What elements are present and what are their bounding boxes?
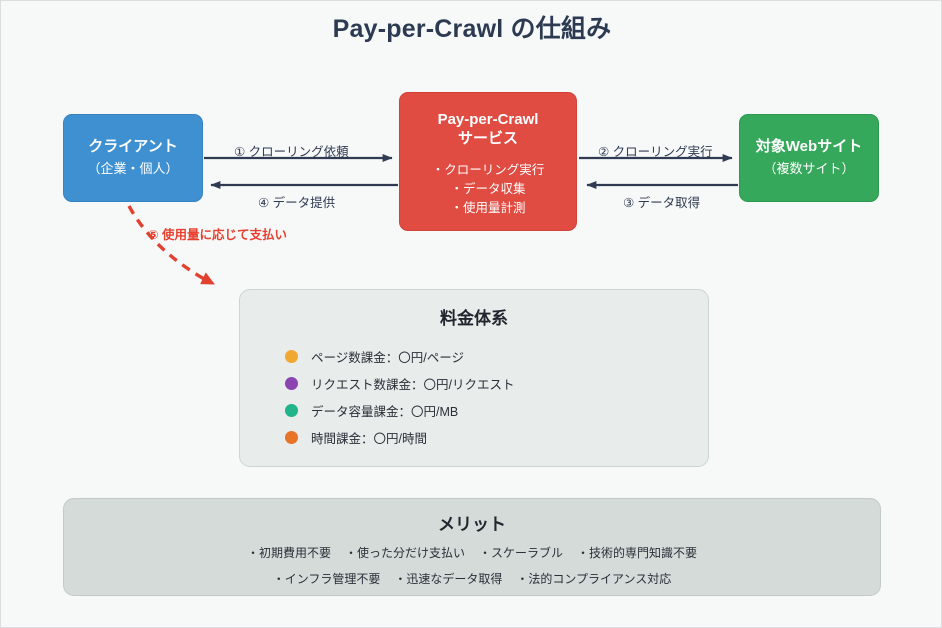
- bullet-dot-icon: [285, 404, 298, 417]
- merits-line-2: ・インフラ管理不要・迅速なデータ取得・法的コンプライアンス対応: [64, 570, 880, 587]
- edge-label-data-provide: ④ データ提供: [258, 192, 335, 211]
- edge-label-crawl-execute: ② クローリング実行: [598, 141, 713, 160]
- pricing-item: ページ数課金：〇円/ページ: [285, 343, 708, 370]
- node-target-title: 対象Webサイト: [756, 138, 862, 157]
- edge-label-data-fetch: ③ データ取得: [623, 192, 700, 211]
- pricing-panel-title: 料金体系: [240, 304, 708, 329]
- arrow-payment-dashed: [129, 206, 206, 280]
- node-client-subtitle: （企業・個人）: [87, 161, 178, 178]
- merit-item: ・初期費用不要: [247, 546, 331, 560]
- pricing-item-label: リクエスト数課金：〇円/リクエスト: [311, 374, 514, 393]
- pricing-panel: 料金体系 ページ数課金：〇円/ページ リクエスト数課金：〇円/リクエスト データ…: [239, 289, 709, 467]
- node-service-feature-list: ・クローリング実行 ・データ収集 ・使用量計測: [432, 161, 545, 219]
- node-target-subtitle: （複数サイト）: [763, 161, 854, 178]
- node-target-website[interactable]: 対象Webサイト （複数サイト）: [739, 114, 879, 202]
- edge-label-payment: ⑤ 使用量に応じて支払い: [148, 224, 287, 243]
- diagram-canvas: Pay-per-Crawl の仕組み クライアント （企業・個人） Pay-pe…: [0, 0, 942, 628]
- merits-panel: メリット ・初期費用不要・使った分だけ支払い・スケーラブル・技術的専門知識不要 …: [63, 498, 881, 596]
- node-client[interactable]: クライアント （企業・個人）: [63, 114, 203, 202]
- page-title: Pay-per-Crawl の仕組み: [1, 9, 942, 45]
- node-service[interactable]: Pay-per-Crawl サービス ・クローリング実行 ・データ収集 ・使用量…: [399, 92, 577, 231]
- bullet-dot-icon: [285, 350, 298, 363]
- node-service-feature: ・使用量計測: [432, 199, 545, 218]
- merit-item: ・スケーラブル: [479, 546, 563, 560]
- pricing-item-label: ページ数課金：〇円/ページ: [311, 347, 464, 366]
- merit-item: ・インフラ管理不要: [273, 572, 381, 586]
- merits-panel-title: メリット: [64, 510, 880, 535]
- node-service-feature: ・クローリング実行: [432, 161, 545, 180]
- merit-item: ・法的コンプライアンス対応: [516, 572, 671, 586]
- pricing-item-list: ページ数課金：〇円/ページ リクエスト数課金：〇円/リクエスト データ容量課金：…: [285, 343, 708, 451]
- merits-line-1: ・初期費用不要・使った分だけ支払い・スケーラブル・技術的専門知識不要: [64, 544, 880, 561]
- node-client-title: クライアント: [88, 138, 177, 157]
- merit-item: ・迅速なデータ取得: [394, 572, 502, 586]
- edge-label-crawl-request: ① クローリング依頼: [234, 141, 349, 160]
- node-service-feature: ・データ収集: [432, 180, 545, 199]
- merit-item: ・技術的専門知識不要: [577, 546, 697, 560]
- pricing-item: 時間課金：〇円/時間: [285, 424, 708, 451]
- node-service-title-line2: サービス: [458, 130, 518, 149]
- node-service-title-line1: Pay-per-Crawl: [438, 111, 539, 130]
- bullet-dot-icon: [285, 377, 298, 390]
- merit-item: ・使った分だけ支払い: [345, 546, 465, 560]
- pricing-item: データ容量課金：〇円/MB: [285, 397, 708, 424]
- pricing-item: リクエスト数課金：〇円/リクエスト: [285, 370, 708, 397]
- pricing-item-label: 時間課金：〇円/時間: [311, 428, 427, 447]
- pricing-item-label: データ容量課金：〇円/MB: [311, 401, 458, 420]
- bullet-dot-icon: [285, 431, 298, 444]
